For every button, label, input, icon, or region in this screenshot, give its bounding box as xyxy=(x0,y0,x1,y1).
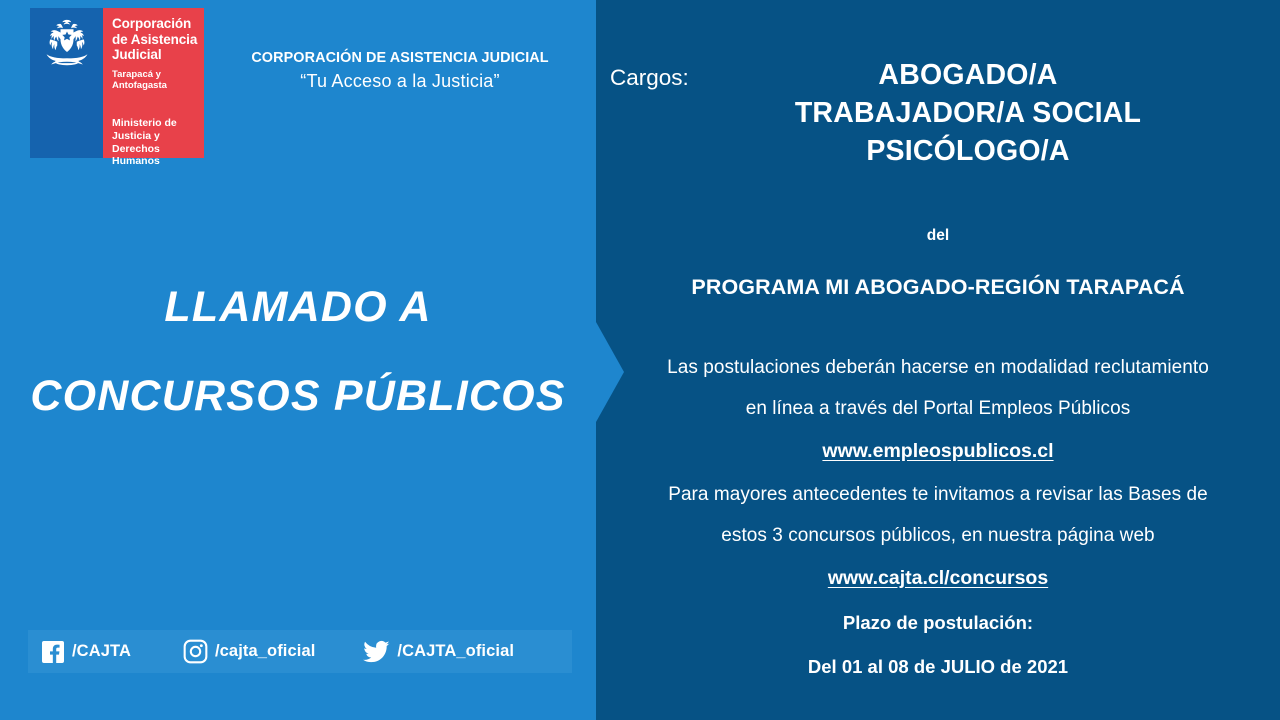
social-media-bar: /CAJTA /cajta_oficial xyxy=(28,630,572,673)
deadline-label: Plazo de postulación: xyxy=(596,612,1280,634)
logo-region: Tarapacá y Antofagasta xyxy=(112,69,204,91)
cargo-item: PSICÓLOGO/A xyxy=(656,133,1280,171)
left-panel: Corporación de Asistencia Judicial Tarap… xyxy=(0,0,596,720)
body-line-1: Las postulaciones deberán hacerse en mod… xyxy=(596,358,1280,377)
poster-canvas: Corporación de Asistencia Judicial Tarap… xyxy=(0,0,1280,720)
facebook-handle: /CAJTA xyxy=(72,642,131,661)
instagram-handle: /cajta_oficial xyxy=(215,642,315,661)
link-cajta-concursos[interactable]: www.cajta.cl/concursos xyxy=(596,567,1280,590)
page-title: LLAMADO A CONCURSOS PÚBLICOS xyxy=(0,286,596,418)
chile-coat-of-arms-icon xyxy=(39,19,95,71)
twitter-icon xyxy=(363,640,390,664)
headline-line-2: CONCURSOS PÚBLICOS xyxy=(0,375,596,418)
instagram-icon xyxy=(183,639,208,664)
right-panel: Cargos: ABOGADO/A TRABAJADOR/A SOCIAL PS… xyxy=(596,0,1280,720)
logo-ministry-line-2: Justicia y xyxy=(112,130,204,143)
logo-ministry: Ministerio de Justicia y Derechos Humano… xyxy=(112,117,204,167)
headline-line-1: LLAMADO A xyxy=(164,283,431,331)
logo-ministry-line-4: Humanos xyxy=(112,155,204,168)
social-link-twitter[interactable]: /CAJTA_oficial xyxy=(363,640,514,664)
connector-text: del xyxy=(596,227,1280,245)
logo-region-line-1: Tarapacá y xyxy=(112,69,204,80)
social-link-instagram[interactable]: /cajta_oficial xyxy=(183,639,315,664)
body-line-4: estos 3 concursos públicos, en nuestra p… xyxy=(596,526,1280,545)
institution-logo: Corporación de Asistencia Judicial Tarap… xyxy=(30,8,204,158)
logo-ministry-line-1: Ministerio de xyxy=(112,117,204,130)
cargos-block: Cargos: ABOGADO/A TRABAJADOR/A SOCIAL PS… xyxy=(596,57,1280,171)
twitter-handle: /CAJTA_oficial xyxy=(397,642,514,661)
deadline-dates: Del 01 al 08 de JULIO de 2021 xyxy=(596,656,1280,678)
social-link-facebook[interactable]: /CAJTA xyxy=(41,640,131,664)
body-line-2: en línea a través del Portal Empleos Púb… xyxy=(596,399,1280,418)
body-line-3: Para mayores antecedentes te invitamos a… xyxy=(596,485,1280,504)
logo-text-panel: Corporación de Asistencia Judicial Tarap… xyxy=(103,8,204,158)
cargo-item: ABOGADO/A xyxy=(656,57,1280,95)
link-empleos-publicos[interactable]: www.empleospublicos.cl xyxy=(596,440,1280,463)
logo-institution-line-1: Corporación xyxy=(112,16,204,32)
logo-institution-line-3: Judicial xyxy=(112,47,204,63)
logo-emblem-panel xyxy=(30,8,103,158)
logo-region-line-2: Antofagasta xyxy=(112,80,204,91)
logo-ministry-line-3: Derechos xyxy=(112,143,204,156)
organization-name: CORPORACIÓN DE ASISTENCIA JUDICIAL xyxy=(204,50,596,66)
organization-slogan: “Tu Acceso a la Justicia” xyxy=(204,71,596,92)
announcement-body: Las postulaciones deberán hacerse en mod… xyxy=(596,358,1280,678)
cargos-list: ABOGADO/A TRABAJADOR/A SOCIAL PSICÓLOGO/… xyxy=(596,57,1280,171)
header-block: CORPORACIÓN DE ASISTENCIA JUDICIAL “Tu A… xyxy=(204,50,596,92)
program-name: PROGRAMA MI ABOGADO-REGIÓN TARAPACÁ xyxy=(596,275,1280,300)
logo-institution-name: Corporación de Asistencia Judicial xyxy=(112,16,204,63)
cargos-label: Cargos: xyxy=(610,65,689,91)
facebook-icon xyxy=(41,640,65,664)
logo-institution-line-2: de Asistencia xyxy=(112,32,204,48)
cargo-item: TRABAJADOR/A SOCIAL xyxy=(656,95,1280,133)
chevron-right-icon xyxy=(596,322,624,422)
